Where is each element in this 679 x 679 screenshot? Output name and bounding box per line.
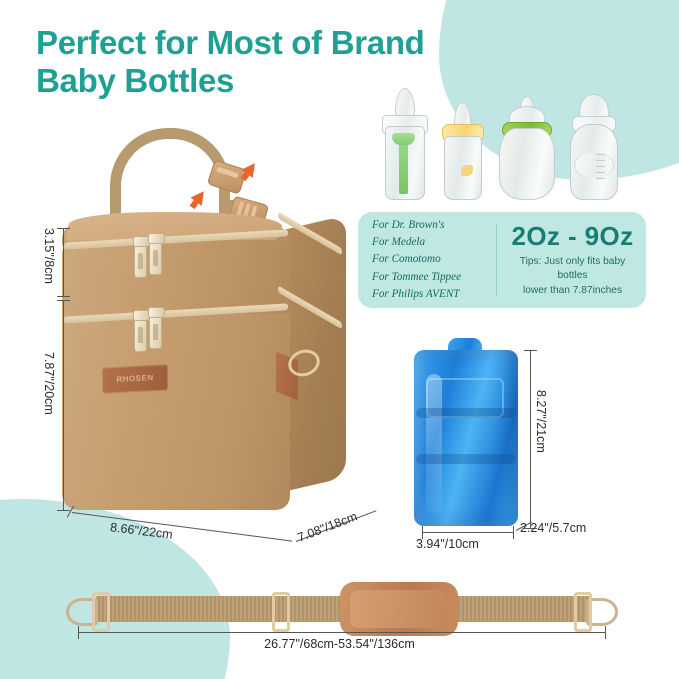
ice-pack-dimension-width-label: 3.94"/10cm	[416, 537, 479, 551]
ice-pack-groove	[416, 454, 516, 464]
bag-dimension-body-height-label: 7.87"/20cm	[42, 352, 56, 415]
zipper-pull-icon	[149, 313, 162, 349]
ice-pack-dimension-height-label: 8.27"/21cm	[534, 390, 548, 453]
strap-shoulder-pad	[340, 582, 458, 636]
brand-list: For Dr. Brown's For Medela For Comotomo …	[358, 217, 494, 302]
strap-dimension-length-label: 26.77"/68cm-53.54"/136cm	[0, 637, 679, 651]
bottle-waist	[574, 152, 614, 178]
capacity-tips-line-1: Tips: Just only fits baby bottles	[505, 255, 640, 284]
compatible-bottles-illustration	[382, 88, 618, 200]
zipper-pull-icon	[134, 316, 147, 352]
bottle-vent-insert	[399, 138, 408, 194]
bag-logo-text: RHOSEN	[102, 364, 168, 393]
capacity-block: 2Oz - 9Oz Tips: Just only fits baby bott…	[505, 222, 646, 298]
brand-list-item-4: For Philips AVENT	[372, 286, 494, 303]
bottle-measure-ticks	[596, 154, 608, 188]
bag-lower-compartment	[62, 314, 290, 510]
assembly-arrow-icon	[242, 159, 261, 178]
brand-list-item-1: For Medela	[372, 234, 494, 251]
compatibility-info-box: For Dr. Brown's For Medela For Comotomo …	[358, 212, 646, 308]
brand-list-item-2: For Comotomo	[372, 251, 494, 268]
ice-pack-highlight	[426, 374, 442, 514]
strap-ring-icon	[574, 592, 592, 632]
ice-pack-dimension-thickness-label: 2.24"/5.7cm	[520, 521, 586, 535]
ice-pack-body	[414, 350, 518, 526]
cooler-bag-illustration: RHOSEN	[62, 128, 352, 528]
comotomo-bottle-icon	[499, 100, 553, 200]
bag-dimension-lid-height-label: 3.15"/8cm	[42, 228, 56, 284]
strap-ring-icon	[92, 592, 110, 632]
ice-pack-groove	[416, 408, 516, 418]
zipper-pull-icon	[149, 239, 162, 275]
bag-logo-patch: RHOSEN	[102, 364, 168, 393]
strap-adjuster-icon	[272, 592, 290, 632]
info-box-divider	[496, 224, 497, 296]
dr-browns-bottle-icon	[382, 92, 426, 200]
bag-upper-compartment	[62, 240, 290, 314]
shoulder-strap-illustration	[64, 578, 620, 640]
brand-list-item-3: For Tommee Tippee	[372, 269, 494, 286]
capacity-tips: Tips: Just only fits baby bottles lower …	[505, 255, 640, 298]
bottle-body	[499, 128, 555, 200]
zipper-pull-icon	[134, 242, 147, 278]
brand-list-item-0: For Dr. Brown's	[372, 217, 494, 234]
tommee-tippee-bottle-icon	[568, 96, 618, 200]
ice-pack-illustration	[414, 338, 524, 528]
page-title-line-1: Perfect for Most of Brand	[36, 24, 466, 62]
medela-bottle-icon	[441, 106, 483, 200]
product-infographic: Perfect for Most of Brand Baby Bottles	[0, 0, 679, 679]
capacity-range: 2Oz - 9Oz	[505, 222, 640, 251]
capacity-tips-line-2: lower than 7.87inches	[505, 284, 640, 298]
